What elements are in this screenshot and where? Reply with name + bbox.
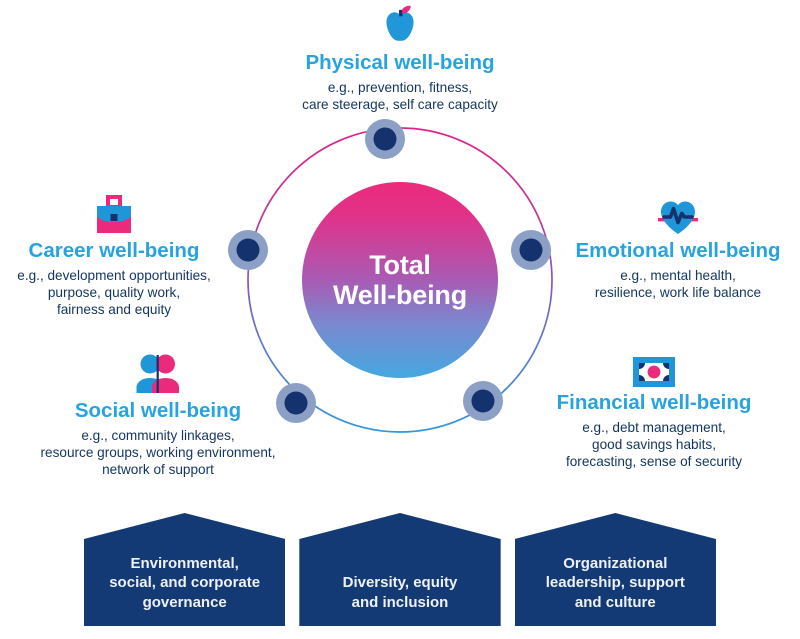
center-hub-label: Total Well-being [333, 250, 467, 310]
node-emotional [511, 230, 551, 270]
foundation-line: Diversity, equity [335, 573, 466, 593]
desc-line: resilience, work life balance [556, 284, 800, 301]
pillar-social: Social well-being e.g., community linkag… [8, 352, 308, 479]
desc-line: fairness and equity [0, 301, 228, 318]
foundation-line: and inclusion [335, 593, 466, 613]
pillar-desc-social: e.g., community linkages, resource group… [8, 427, 308, 479]
people-icon [132, 352, 184, 398]
center-hub-line2: Well-being [333, 280, 467, 310]
apple-icon [379, 4, 421, 48]
foundation-box-esg: Environmental, social, and corporate gov… [84, 513, 285, 626]
node-career [228, 230, 268, 270]
center-hub-line1: Total [333, 250, 467, 280]
pillar-desc-emotional: e.g., mental health, resilience, work li… [556, 267, 800, 302]
desc-line: good savings habits, [508, 436, 800, 453]
pillar-desc-career: e.g., development opportunities, purpose… [0, 267, 228, 319]
desc-line: e.g., community linkages, [8, 427, 308, 444]
pillar-title-career: Career well-being [0, 240, 228, 263]
desc-line: care steerage, self care capacity [250, 96, 550, 113]
banknote-icon [631, 354, 677, 390]
desc-line: network of support [8, 461, 308, 478]
node-financial [463, 381, 503, 421]
foundation-line: Environmental, [101, 554, 268, 574]
briefcase-icon [91, 192, 137, 238]
pillar-title-financial: Financial well-being [508, 392, 800, 415]
foundation-line: leadership, support [538, 573, 693, 593]
total-wellbeing-diagram: Total Well-being Physical well-being e.g… [0, 0, 800, 639]
desc-line: purpose, quality work, [0, 284, 228, 301]
pillar-financial: Financial well-being e.g., debt manageme… [508, 354, 800, 471]
desc-line: e.g., debt management, [508, 419, 800, 436]
pillar-title-social: Social well-being [8, 400, 308, 423]
pillar-career: Career well-being e.g., development oppo… [0, 192, 228, 319]
desc-line: e.g., mental health, [556, 267, 800, 284]
foundation-line: and culture [538, 593, 693, 613]
foundation-box-dei: Diversity, equity and inclusion [299, 513, 500, 626]
pillar-desc-physical: e.g., prevention, fitness, care steerage… [250, 79, 550, 114]
foundation-box-org-leadership: Organizational leadership, support and c… [515, 513, 716, 626]
foundation-line: social, and corporate [101, 573, 268, 593]
desc-line: e.g., prevention, fitness, [250, 79, 550, 96]
desc-line: forecasting, sense of security [508, 453, 800, 470]
pillar-desc-financial: e.g., debt management, good savings habi… [508, 419, 800, 471]
foundation-line: governance [101, 593, 268, 613]
pillar-title-physical: Physical well-being [250, 52, 550, 75]
heartbeat-icon [654, 194, 702, 238]
desc-line: resource groups, working environment, [8, 444, 308, 461]
node-physical [365, 119, 405, 159]
center-hub: Total Well-being [302, 182, 498, 378]
desc-line: e.g., development opportunities, [0, 267, 228, 284]
pillar-physical: Physical well-being e.g., prevention, fi… [250, 4, 550, 113]
pillar-title-emotional: Emotional well-being [556, 240, 800, 263]
foundation-line: Organizational [538, 554, 693, 574]
pillar-emotional: Emotional well-being e.g., mental health… [556, 194, 800, 301]
foundation-row: Environmental, social, and corporate gov… [84, 513, 716, 626]
